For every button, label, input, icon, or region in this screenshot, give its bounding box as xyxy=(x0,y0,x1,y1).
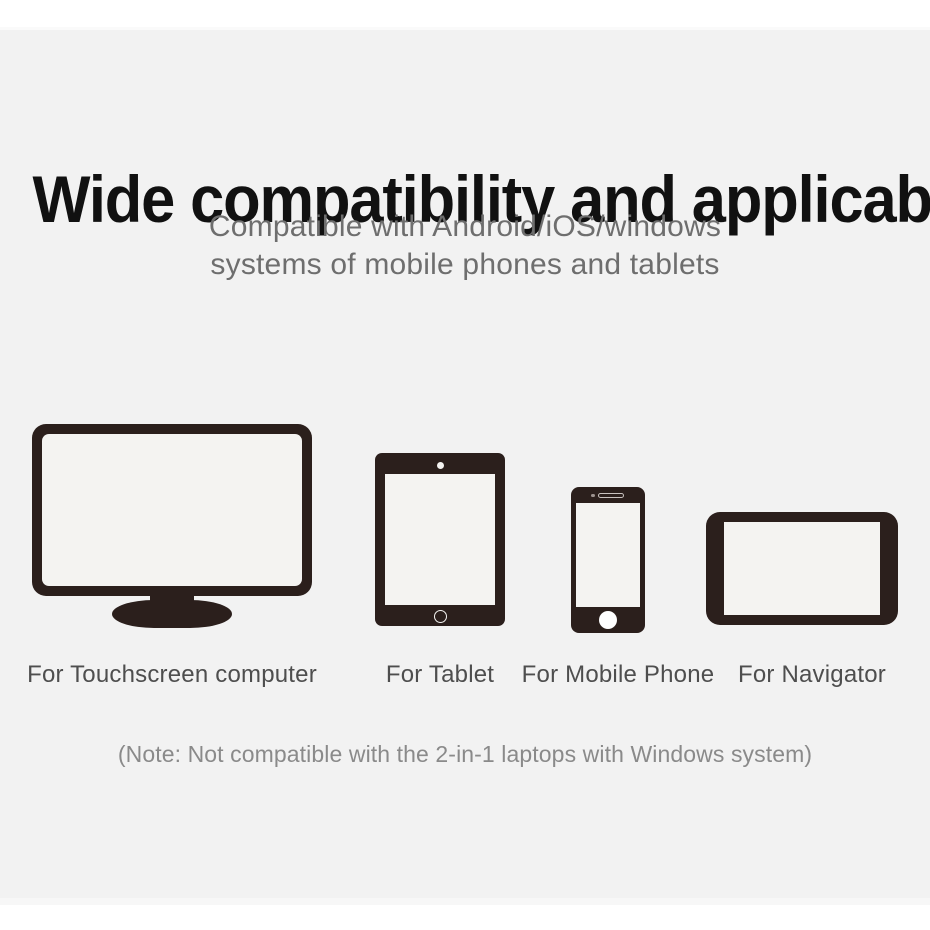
car-navigator-screen xyxy=(724,522,880,615)
caption-mobile-phone: For Mobile Phone xyxy=(518,660,718,690)
smartphone-earpiece-speaker xyxy=(598,493,624,498)
smartphone-screen xyxy=(576,503,640,607)
caption-touchscreen-computer: For Touchscreen computer xyxy=(22,660,322,690)
promo-banner: Wide compatibility and applicability Com… xyxy=(0,0,930,930)
caption-navigator: For Navigator xyxy=(723,660,901,690)
desktop-monitor-screen xyxy=(42,434,302,586)
tablet-camera-dot xyxy=(437,462,444,469)
compatibility-note: (Note: Not compatible with the 2-in-1 la… xyxy=(0,738,930,770)
tablet-home-button xyxy=(434,610,447,623)
caption-tablet: For Tablet xyxy=(365,660,515,690)
desktop-monitor-icon xyxy=(32,424,312,596)
desktop-monitor-stand-neck xyxy=(150,590,194,616)
smartphone-icon xyxy=(571,487,645,633)
device-compatibility-row: For Touchscreen computer For Tablet For … xyxy=(0,0,930,930)
tablet-icon xyxy=(375,453,505,626)
car-navigator-icon xyxy=(706,512,898,625)
tablet-screen xyxy=(385,474,495,605)
smartphone-home-button xyxy=(599,611,617,629)
smartphone-camera-dot xyxy=(591,494,595,498)
